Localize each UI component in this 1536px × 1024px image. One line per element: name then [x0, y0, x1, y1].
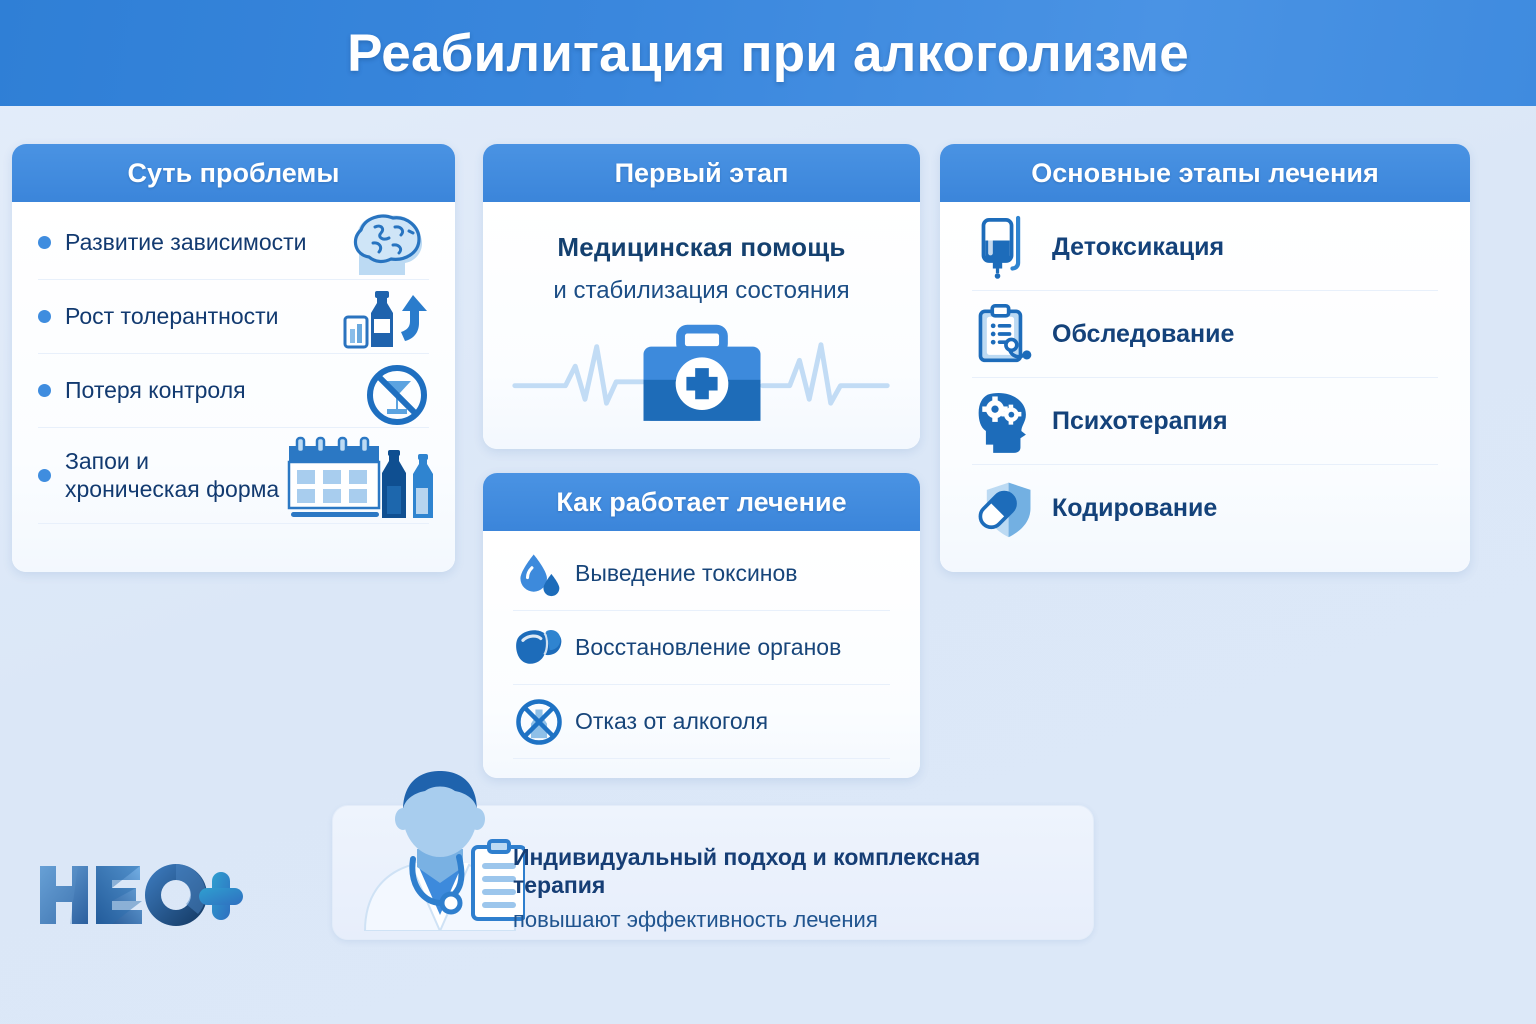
footer-banner: Индивидуальный подход и комплексная тера…	[332, 805, 1094, 940]
clipboard-checkup-icon	[972, 302, 1038, 366]
first-aid-kit-icon	[507, 313, 897, 436]
head-gears-icon	[972, 389, 1038, 453]
brain-icon	[339, 207, 435, 279]
list-item-label: Запои и хроническая форма	[65, 448, 279, 502]
list-item-label: Отказ от алкоголя	[575, 708, 768, 735]
list-item[interactable]: Психотерапия	[972, 378, 1438, 465]
first-stage-line1: Медицинская помощь	[483, 232, 920, 263]
card-how-it-works-header: Как работает лечение	[483, 473, 920, 531]
list-item-label: Восстановление органов	[575, 634, 841, 661]
card-first-stage-body: Медицинская помощь и стабилизация состоя…	[483, 202, 920, 449]
first-aid-illustration	[483, 313, 920, 436]
page-title: Реабилитация при алкоголизме	[347, 27, 1189, 80]
list-item-label: Психотерапия	[1052, 407, 1228, 436]
list-item[interactable]: Рост толерантности	[38, 280, 429, 354]
list-item-label: Развитие зависимости	[65, 229, 307, 256]
bullet-icon	[38, 310, 51, 323]
first-stage-text: Медицинская помощь и стабилизация состоя…	[483, 202, 920, 305]
list-item[interactable]: Отказ от алкоголя	[513, 685, 890, 759]
bullet-icon	[38, 384, 51, 397]
card-how-it-works-title: Как работает лечение	[556, 487, 846, 518]
first-stage-line2: и стабилизация состояния	[483, 277, 920, 305]
list-item-label: Потеря контроля	[65, 377, 246, 404]
list-item[interactable]: Развитие зависимости	[38, 206, 429, 280]
footer-line1: Индивидуальный подход и комплексная тера…	[513, 844, 1073, 899]
liver-icon	[513, 626, 565, 669]
no-drink-icon	[513, 697, 565, 747]
card-problem-body: Развитие зависимости	[12, 202, 455, 572]
bullet-icon	[38, 469, 51, 482]
card-how-it-works: Как работает лечение Выведение токсинов	[483, 473, 920, 778]
card-main-stages: Основные этапы лечения Детоксикация	[940, 144, 1470, 572]
problem-list: Развитие зависимости	[12, 202, 455, 524]
footer-line2: повышают эффективность лечения	[513, 907, 1073, 933]
card-problem: Суть проблемы Развитие зависимости	[12, 144, 455, 572]
list-item-label: Обследование	[1052, 320, 1234, 349]
card-first-stage: Первый этап Медицинская помощь и стабили…	[483, 144, 920, 449]
card-how-it-works-body: Выведение токсинов Восстановление органо…	[483, 537, 920, 778]
list-item-label: Детоксикация	[1052, 233, 1224, 262]
list-item-label: Кодирование	[1052, 494, 1217, 523]
list-item[interactable]: Выведение токсинов	[513, 537, 890, 611]
pill-shield-icon	[972, 479, 1038, 539]
list-item[interactable]: Обследование	[972, 291, 1438, 378]
card-first-stage-title: Первый этап	[615, 158, 789, 189]
list-item-label: Рост толерантности	[65, 303, 279, 330]
list-item[interactable]: Детоксикация	[972, 204, 1438, 291]
card-main-stages-header: Основные этапы лечения	[940, 144, 1470, 202]
card-problem-title: Суть проблемы	[128, 158, 340, 189]
page-header: Реабилитация при алкоголизме	[0, 0, 1536, 106]
list-item[interactable]: Кодирование	[972, 465, 1438, 552]
water-drop-icon	[513, 551, 565, 597]
footer-text: Индивидуальный подход и комплексная тера…	[513, 844, 1073, 934]
infographic-page: Реабилитация при алкоголизме Суть пробле…	[0, 0, 1536, 1024]
calendar-bottles-icon	[271, 430, 451, 522]
iv-drip-icon	[972, 214, 1038, 280]
doctor-icon	[355, 763, 525, 931]
card-main-stages-body: Детоксикация	[940, 204, 1470, 572]
list-item[interactable]: Запои и хроническая форма	[38, 428, 429, 524]
neo-plus-logo	[36, 858, 256, 932]
card-problem-header: Суть проблемы	[12, 144, 455, 202]
bullet-icon	[38, 236, 51, 249]
list-item-label: Выведение токсинов	[575, 560, 798, 587]
bottle-growth-icon	[339, 281, 435, 353]
card-first-stage-header: Первый этап	[483, 144, 920, 202]
no-alcohol-icon	[339, 355, 435, 427]
list-item[interactable]: Восстановление органов	[513, 611, 890, 685]
card-main-stages-title: Основные этапы лечения	[1031, 158, 1378, 189]
list-item[interactable]: Потеря контроля	[38, 354, 429, 428]
